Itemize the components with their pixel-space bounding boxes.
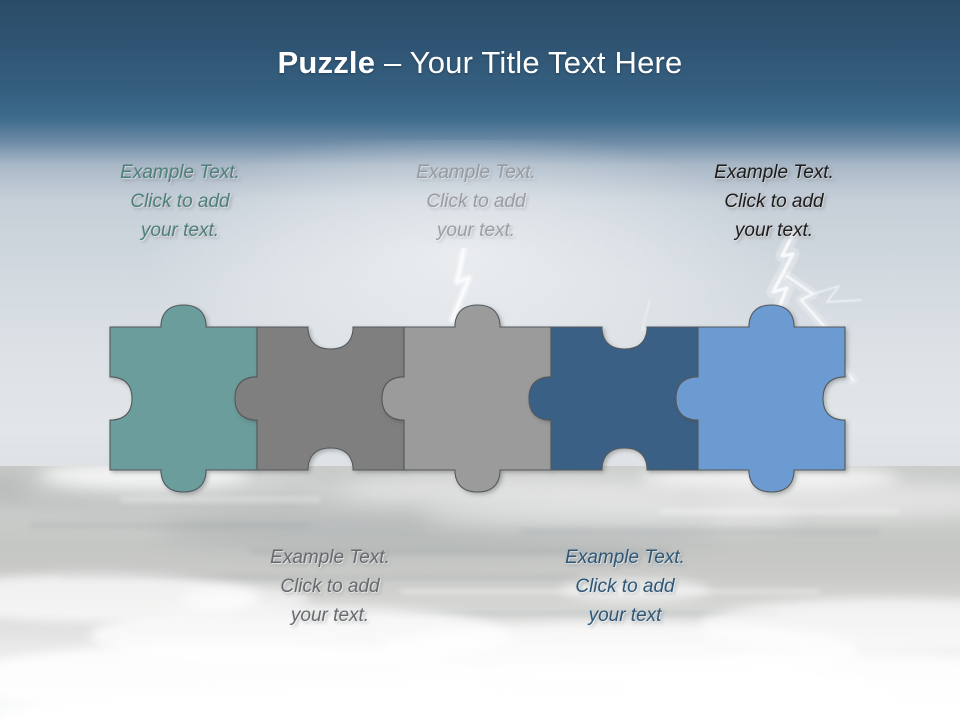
caption-line: Example Text. bbox=[381, 158, 571, 187]
puzzle-piece-light-blue[interactable] bbox=[676, 305, 845, 492]
caption-line: Example Text. bbox=[235, 543, 425, 572]
caption-top-center[interactable]: Example Text. Click to add your text. bbox=[381, 158, 571, 245]
caption-line: Click to add bbox=[530, 572, 720, 601]
caption-line: Click to add bbox=[85, 187, 275, 216]
puzzle-graphic bbox=[95, 265, 885, 525]
caption-line: your text bbox=[530, 601, 720, 630]
caption-top-right[interactable]: Example Text. Click to add your text. bbox=[679, 158, 869, 245]
caption-line: Example Text. bbox=[530, 543, 720, 572]
puzzle-piece-dark-gray[interactable] bbox=[235, 327, 404, 470]
slide-title: Puzzle – Your Title Text Here bbox=[0, 44, 960, 81]
puzzle-piece-dark-blue[interactable] bbox=[529, 327, 698, 470]
caption-line: Click to add bbox=[235, 572, 425, 601]
puzzle-svg bbox=[95, 265, 885, 525]
caption-line: your text. bbox=[679, 216, 869, 245]
caption-line: your text. bbox=[381, 216, 571, 245]
caption-bottom-center[interactable]: Example Text. Click to add your text bbox=[530, 543, 720, 630]
caption-line: your text. bbox=[85, 216, 275, 245]
slide-canvas: Puzzle – Your Title Text Here Example Te… bbox=[0, 0, 960, 720]
caption-bottom-left[interactable]: Example Text. Click to add your text. bbox=[235, 543, 425, 630]
caption-line: Click to add bbox=[679, 187, 869, 216]
puzzle-piece-light-gray[interactable] bbox=[382, 305, 551, 492]
caption-line: your text. bbox=[235, 601, 425, 630]
caption-line: Click to add bbox=[381, 187, 571, 216]
title-bold-part: Puzzle bbox=[278, 45, 376, 80]
caption-line: Example Text. bbox=[85, 158, 275, 187]
title-rest-part: – Your Title Text Here bbox=[375, 45, 682, 80]
caption-line: Example Text. bbox=[679, 158, 869, 187]
caption-top-left[interactable]: Example Text. Click to add your text. bbox=[85, 158, 275, 245]
